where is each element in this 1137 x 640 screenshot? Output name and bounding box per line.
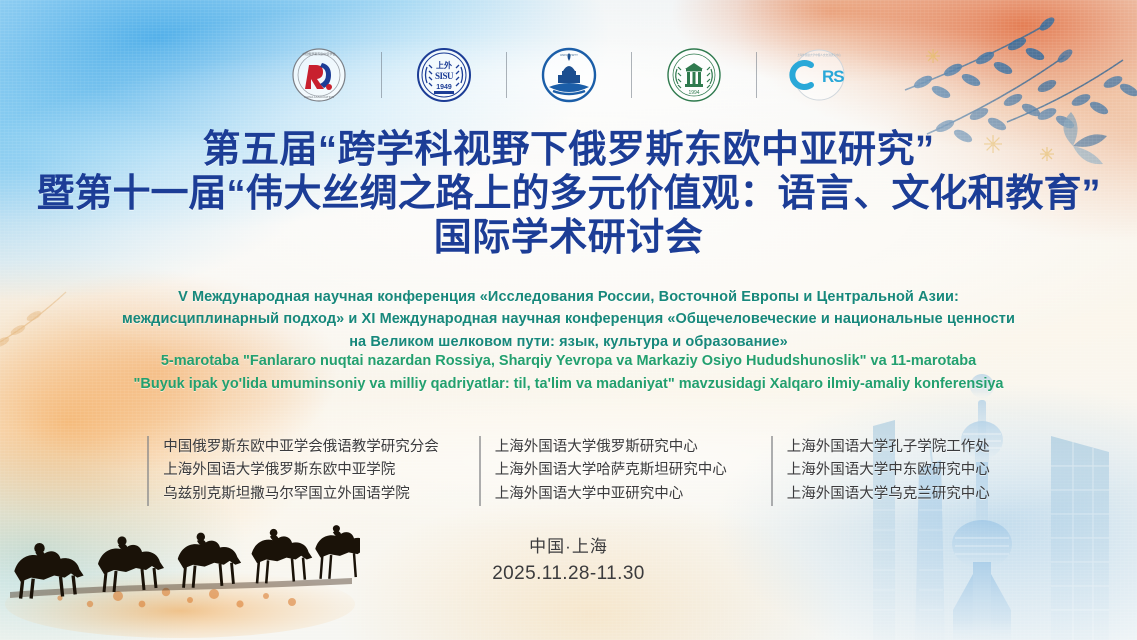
event-location: 中国·上海 bbox=[0, 534, 1137, 560]
column-divider-bar bbox=[771, 436, 773, 506]
logo-divider bbox=[756, 52, 757, 98]
organizer-item: 上海外国语大学俄罗斯东欧中亚学院 bbox=[163, 459, 439, 482]
russian-subtitle: V Международная научная конференция «Исс… bbox=[0, 286, 1137, 353]
logo-blue-dome-university-logo: UNIVERSITY bbox=[521, 44, 617, 106]
organizer-logo-row: 中国俄罗斯东欧中亚学会 CHINA ASSOCIATION 上外 SISU bbox=[0, 44, 1137, 106]
conference-poster: 中国俄罗斯东欧中亚学会 CHINA ASSOCIATION 上外 SISU bbox=[0, 0, 1137, 640]
logo-divider bbox=[381, 52, 382, 98]
svg-text:1994: 1994 bbox=[688, 90, 699, 96]
organizer-item: 上海外国语大学哈萨克斯坦研究中心 bbox=[495, 459, 727, 482]
svg-text:上外: 上外 bbox=[436, 60, 452, 70]
organizer-item: 上海外国语大学孔子学院工作处 bbox=[787, 436, 990, 459]
logo-samarkand-institute-logo: 1994 bbox=[646, 44, 742, 106]
uzbek-line-1: 5-marotaba "Fanlararo nuqtai nazardan Ro… bbox=[0, 350, 1137, 373]
organizer-column-2: 上海外国语大学俄罗斯研究中心 上海外国语大学哈萨克斯坦研究中心 上海外国语大学中… bbox=[479, 436, 727, 506]
uzbek-line-2: "Buyuk ipak yo'lida umuminsoniy va milli… bbox=[0, 373, 1137, 396]
logo-sisu-logo: 上外 SISU 1949 bbox=[396, 44, 492, 106]
footer-info: 中国·上海 2025.11.28-11.30 bbox=[0, 534, 1137, 588]
svg-text:SISU: SISU bbox=[434, 71, 453, 81]
event-dates: 2025.11.28-11.30 bbox=[0, 560, 1137, 589]
organizer-column-1: 中国俄罗斯东欧中亚学会俄语教学研究分会 上海外国语大学俄罗斯东欧中亚学院 乌兹别… bbox=[147, 436, 439, 506]
organizer-column-3: 上海外国语大学孔子学院工作处 上海外国语大学中东欧研究中心 上海外国语大学乌克兰… bbox=[771, 436, 990, 506]
svg-text:1949: 1949 bbox=[436, 84, 452, 91]
logo-divider bbox=[631, 52, 632, 98]
logo-crs-logo: RS 上海外国语大学中俄人文交流研究中心 bbox=[771, 44, 867, 106]
organizer-item: 上海外国语大学俄罗斯研究中心 bbox=[495, 436, 727, 459]
uzbek-subtitle: 5-marotaba "Fanlararo nuqtai nazardan Ro… bbox=[0, 350, 1137, 396]
russian-line-2: междисциплинарный подход» и XI Междунаро… bbox=[0, 308, 1137, 330]
logo-divider bbox=[506, 52, 507, 98]
title-line-2: 暨第十一届“伟大丝绸之路上的多元价值观：语言、文化和教育” bbox=[0, 172, 1137, 216]
svg-text:中国俄罗斯东欧中亚学会: 中国俄罗斯东欧中亚学会 bbox=[302, 51, 335, 56]
organizer-item: 上海外国语大学中东欧研究中心 bbox=[787, 459, 990, 482]
page-title: 第五届“跨学科视野下俄罗斯东欧中亚研究” 暨第十一届“伟大丝绸之路上的多元价值观… bbox=[0, 128, 1137, 260]
title-line-3: 国际学术研讨会 bbox=[0, 216, 1137, 260]
svg-text:UNIVERSITY: UNIVERSITY bbox=[559, 53, 577, 57]
title-line-1: 第五届“跨学科视野下俄罗斯东欧中亚研究” bbox=[0, 128, 1137, 172]
organizer-columns: 中国俄罗斯东欧中亚学会俄语教学研究分会 上海外国语大学俄罗斯东欧中亚学院 乌兹别… bbox=[0, 436, 1137, 506]
svg-text:CHINA ASSOCIATION: CHINA ASSOCIATION bbox=[303, 95, 333, 99]
column-divider-bar bbox=[479, 436, 481, 506]
organizer-item: 上海外国语大学中亚研究中心 bbox=[495, 483, 727, 506]
organizer-item: 上海外国语大学乌克兰研究中心 bbox=[787, 483, 990, 506]
svg-text:RS: RS bbox=[822, 67, 844, 86]
svg-text:上海外国语大学中俄人文交流研究中心: 上海外国语大学中俄人文交流研究中心 bbox=[796, 53, 841, 57]
column-divider-bar bbox=[147, 436, 149, 506]
russian-line-1: V Международная научная конференция «Исс… bbox=[0, 286, 1137, 308]
logo-china-russia-eastern-europe-central-asia-association-logo: 中国俄罗斯东欧中亚学会 CHINA ASSOCIATION bbox=[271, 44, 367, 106]
organizer-item: 乌兹别克斯坦撒马尔罕国立外国语学院 bbox=[163, 483, 439, 506]
organizer-item: 中国俄罗斯东欧中亚学会俄语教学研究分会 bbox=[163, 436, 439, 459]
